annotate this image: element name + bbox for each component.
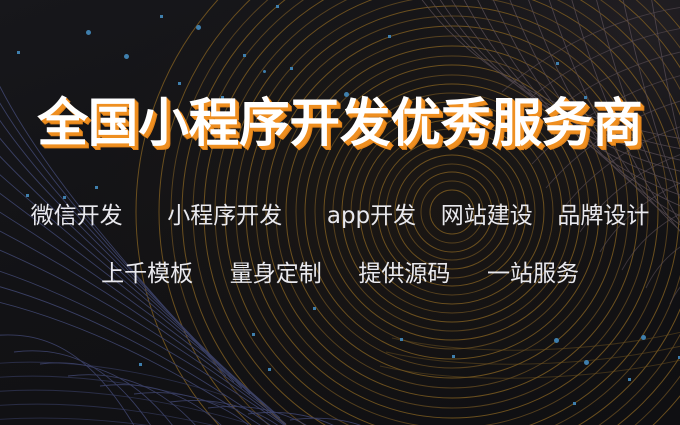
dot [63,196,66,199]
service-item-miniprogram-dev: 小程序开发 [167,201,282,231]
service-item-custom-tailored: 量身定制 [230,259,322,289]
services-line-2: 上千模板 量身定制 提供源码 一站服务 [0,259,680,289]
dot [313,307,316,310]
headline-container: 全国小程序开发优秀服务商 [0,95,680,153]
dot [95,186,98,189]
dot [628,378,631,381]
dot [139,363,142,366]
service-item-one-stop-service: 一站服务 [487,259,579,289]
service-item-source-code: 提供源码 [358,259,450,289]
dot [276,5,279,8]
dot [556,62,559,65]
promo-banner: 全国小程序开发优秀服务商 微信开发 小程序开发 app开发 网站建设 品牌设计 … [0,0,680,425]
dot [252,333,255,336]
dot [243,54,246,57]
service-item-wechat-dev: 微信开发 [31,201,123,231]
service-item-thousands-templates: 上千模板 [101,259,193,289]
services-line-1: 微信开发 小程序开发 app开发 网站建设 品牌设计 [0,201,680,231]
page-title: 全国小程序开发优秀服务商 [37,95,642,153]
dot [178,82,181,85]
dot [400,338,403,341]
dot [160,15,163,18]
dot [290,67,293,70]
dot [17,51,20,54]
service-item-app-dev: app开发 [327,201,416,231]
dot [263,70,266,73]
dot [641,335,646,340]
dot [196,25,201,30]
dot [26,194,29,197]
dot [573,402,576,405]
service-item-brand-design: 品牌设计 [557,201,649,231]
service-item-website-build: 网站建设 [441,201,533,231]
dot [124,54,129,59]
dot [388,35,391,38]
dot [86,30,91,35]
dot [452,355,455,358]
dot [268,368,271,371]
dot [554,338,559,343]
dot [584,360,589,365]
